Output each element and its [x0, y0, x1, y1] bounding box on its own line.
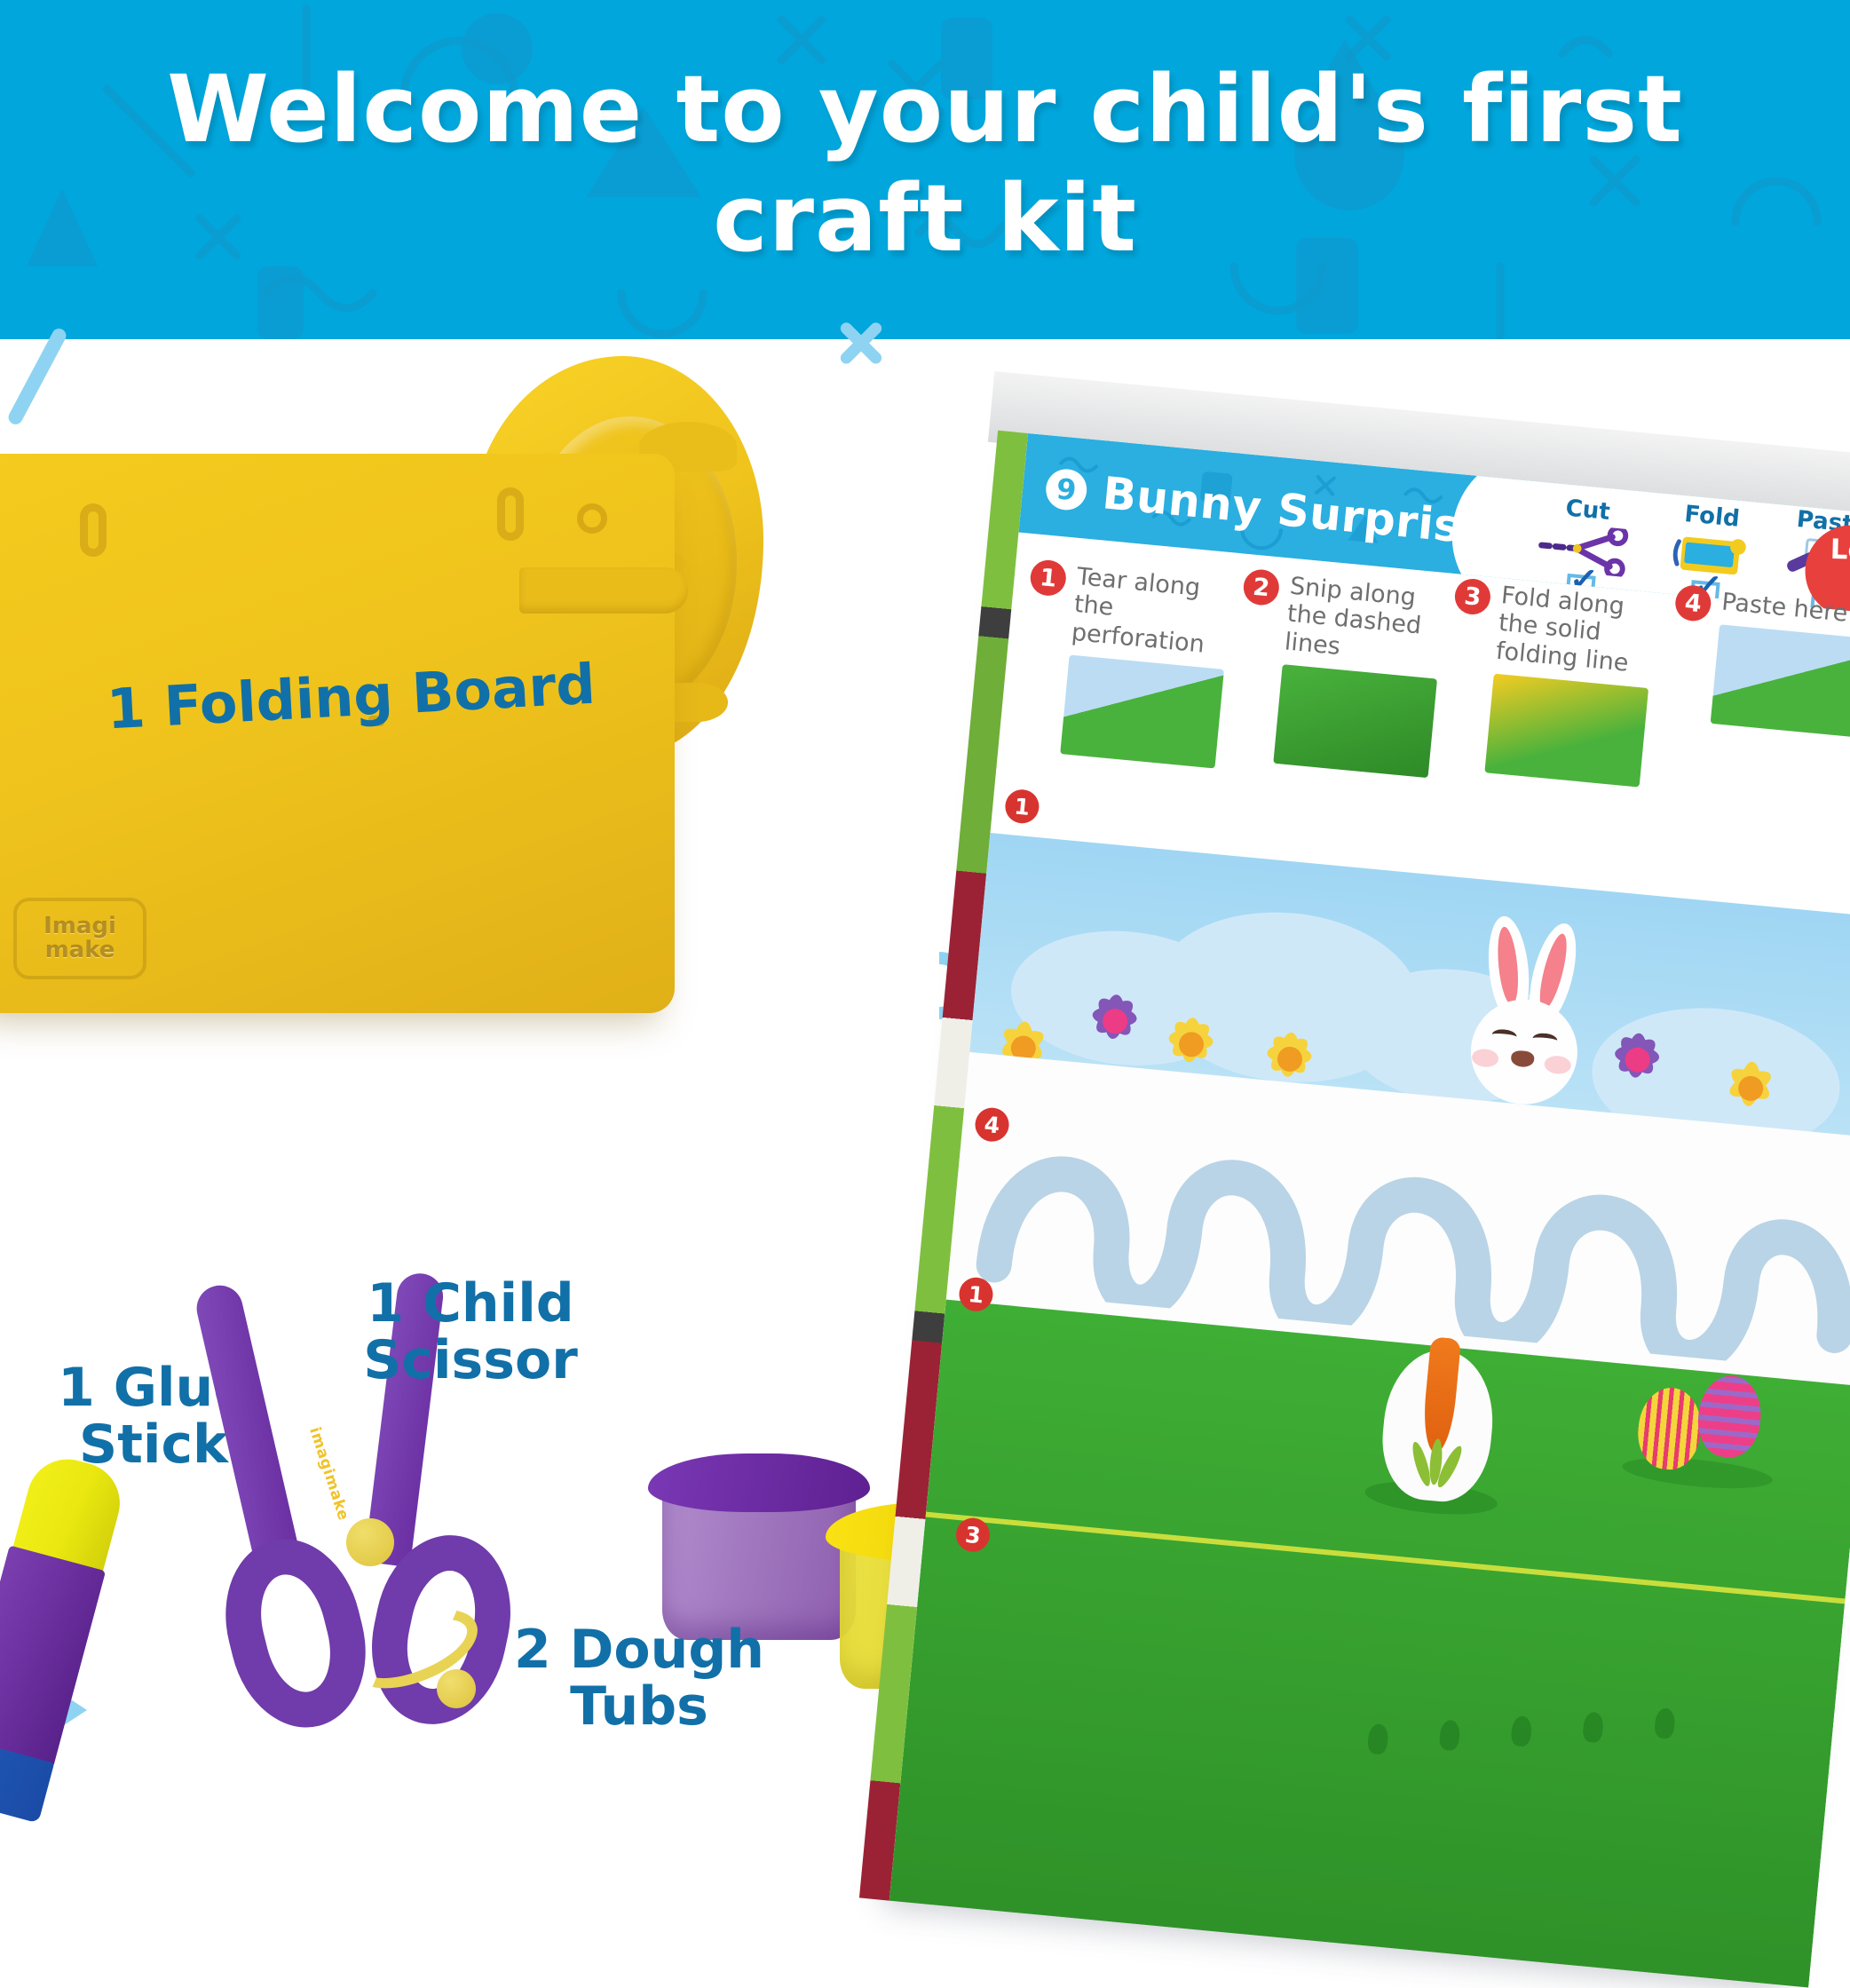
title-line-2: craft kit: [0, 164, 1850, 273]
logo-line-2: make: [45, 939, 115, 962]
step-thumbnail: [1484, 674, 1648, 788]
product-showcase: Imagi make 1 Folding Board 1 Glue Stick …: [0, 339, 1850, 1850]
imagimake-embossed-logo: Imagi make: [13, 898, 146, 979]
activity-book-page: 9 Bunny Surprise Cut: [889, 433, 1850, 1988]
instruction-step: 1 Tear along the perforation: [1014, 558, 1235, 769]
instruction-step: 3 Fold along the solid folding line: [1439, 577, 1660, 788]
easter-egg-icon: [1695, 1373, 1764, 1460]
level-word: Level: [1806, 535, 1850, 566]
title-line-1: Welcome to your child's first: [167, 55, 1683, 163]
bunny-with-carrot-illustration: [1344, 1307, 1532, 1535]
flower-icon: [1162, 1016, 1229, 1074]
label-child-scissor: 1 Child Scissor: [346, 1276, 595, 1389]
instruction-step: 4 Paste here: [1664, 584, 1850, 739]
board-hinge-icon: [497, 487, 524, 541]
step-thumbnail: [1711, 625, 1850, 739]
bunny-head-illustration: [1447, 912, 1606, 1111]
glue-stick-product: [0, 1447, 140, 1820]
header-banner: Welcome to your child's first craft kit: [0, 0, 1850, 339]
step-number: 3: [1453, 577, 1492, 616]
label-dough-tubs: 2 Dough Tubs: [506, 1622, 772, 1735]
activity-book-product: 9 Bunny Surprise Cut: [889, 433, 1850, 1988]
scissor-brand-logo: imagimake: [305, 1425, 352, 1523]
board-hinge-icon: [80, 503, 107, 557]
step-text: Fold along the solid folding line: [1495, 582, 1660, 679]
carrot-leaf-icon: [1413, 1437, 1457, 1490]
step-text: Snip along the dashed lines: [1284, 573, 1449, 670]
flower-icon: [1608, 1031, 1684, 1099]
flower-icon: [1085, 992, 1161, 1060]
step-number: 2: [1242, 568, 1281, 607]
flower-icon: [1721, 1059, 1788, 1118]
grass-illustration: [889, 1300, 1850, 1988]
page-title: Welcome to your child's first craft kit: [0, 55, 1850, 273]
logo-line-1: Imagi: [43, 915, 116, 939]
x-mark-decoration-icon: [834, 321, 888, 366]
instruction-step: 2 Snip along the dashed lines: [1227, 568, 1448, 779]
step-number: 4: [1674, 584, 1713, 623]
step-text: Tear along the perforation: [1071, 563, 1236, 661]
step-thumbnail: [1060, 654, 1224, 768]
step-number: 1: [1029, 558, 1068, 598]
step-thumbnail: [1273, 664, 1437, 778]
